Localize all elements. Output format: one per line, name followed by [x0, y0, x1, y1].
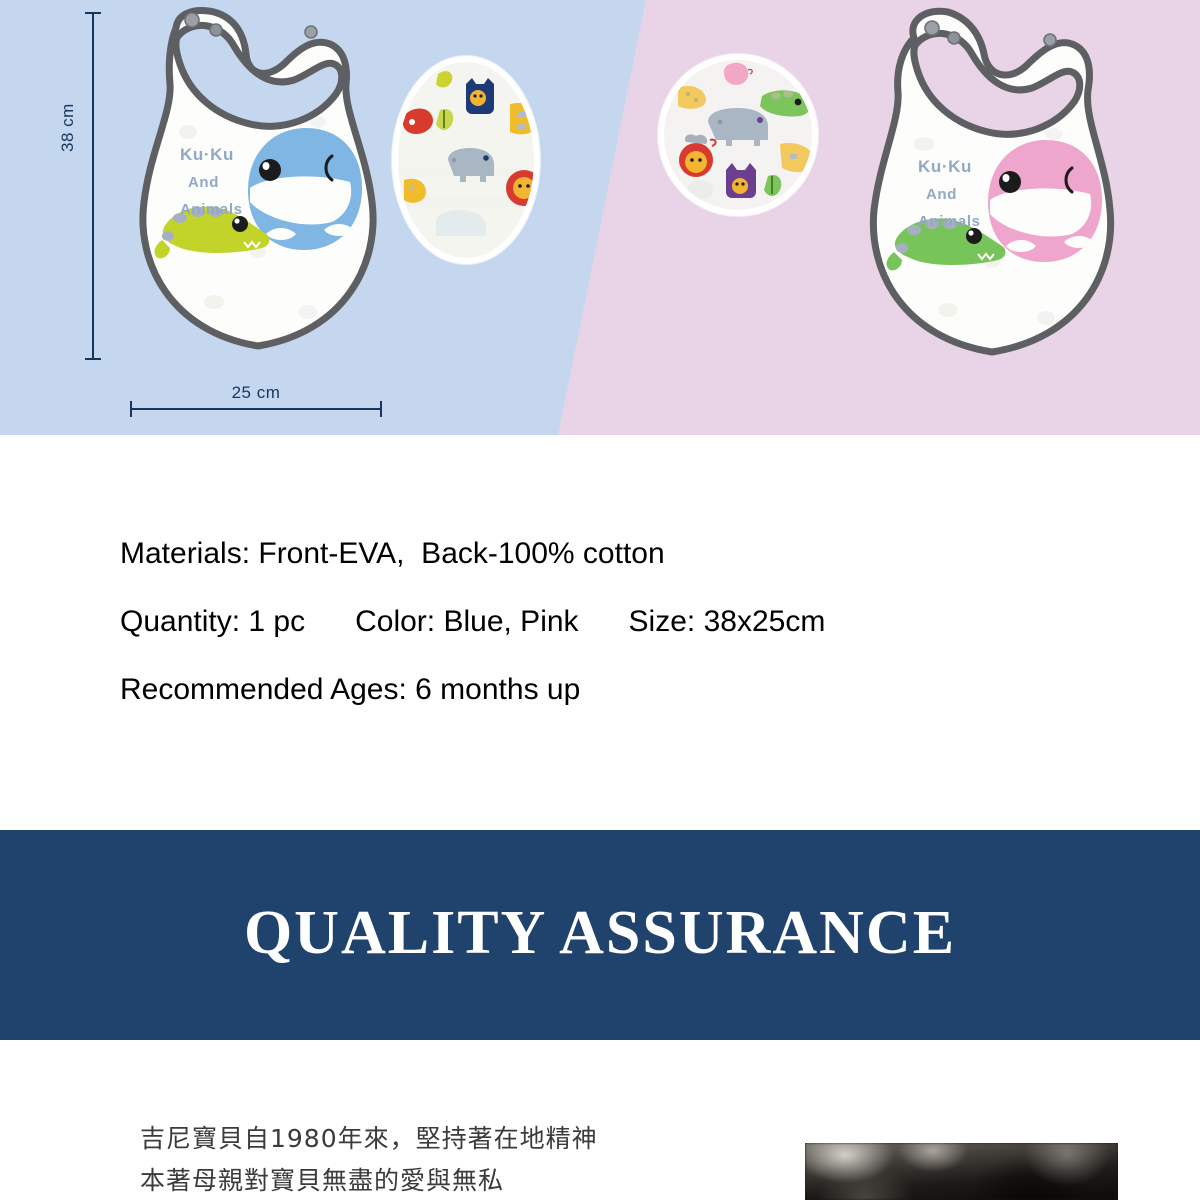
- svg-text:Ku·Ku: Ku·Ku: [180, 145, 234, 164]
- quality-assurance-title: QUALITY ASSURANCE: [0, 898, 1200, 969]
- product-specifications: Materials: Front-EVA, Back-100% cotton Q…: [120, 520, 1120, 724]
- dimension-label-width: 25 cm: [130, 383, 382, 403]
- svg-text:Ku·Ku: Ku·Ku: [918, 157, 972, 176]
- brand-story-line-1: 吉尼寶貝自1980年來，堅持著在地精神: [140, 1118, 760, 1160]
- fabric-detail-inset-pink: [658, 54, 818, 216]
- brand-story-line-2: 本著母親對寶貝無盡的愛與無私: [140, 1160, 760, 1202]
- dimension-label-height: 38 cm: [58, 103, 78, 152]
- product-image-pink-bib: Ku·Ku And Animals: [840, 4, 1130, 364]
- brand-story-text: 吉尼寶貝自1980年來，堅持著在地精神 本著母親對寶貝無盡的愛與無私: [140, 1118, 760, 1202]
- dimension-line-vertical: [92, 12, 94, 360]
- brand-story-photo-image: [805, 1143, 1118, 1200]
- dimension-line-horizontal: [130, 408, 382, 410]
- spec-line-quantity-color-size: Quantity: 1 pc Color: Blue, Pink Size: 3…: [120, 588, 1120, 656]
- product-image-blue-bib: Ku·Ku And Animals: [118, 2, 398, 362]
- fabric-detail-inset-blue: [392, 56, 540, 264]
- spec-line-recommended-ages: Recommended Ages: 6 months up: [120, 656, 1120, 724]
- svg-text:And: And: [926, 186, 957, 203]
- spec-line-materials: Materials: Front-EVA, Back-100% cotton: [120, 520, 1120, 588]
- product-hero-banner: 38 cm 25 cm: [0, 0, 1200, 435]
- svg-text:Animals: Animals: [180, 201, 243, 218]
- brand-story-photo: [805, 1143, 1118, 1200]
- svg-text:Animals: Animals: [918, 213, 981, 230]
- svg-text:And: And: [188, 174, 219, 191]
